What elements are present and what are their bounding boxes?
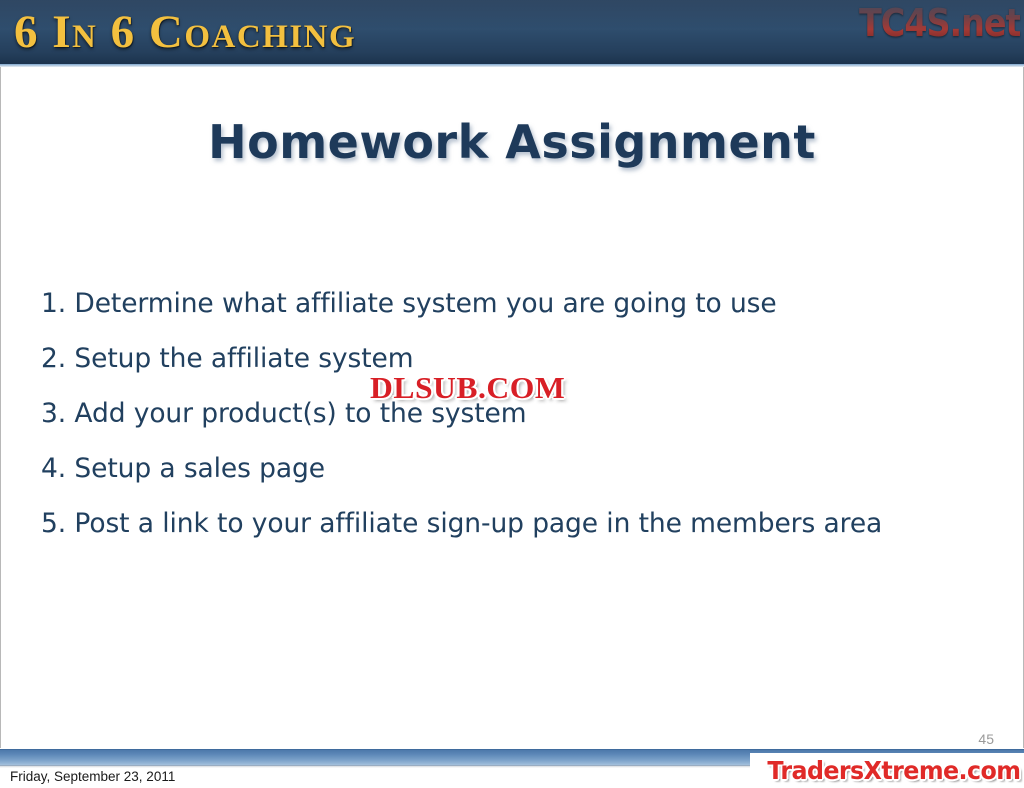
tradersxtreme-logo: TradersXtreme.com [767,756,1020,786]
footer-date: Friday, September 23, 2011 [10,768,175,786]
dlsub-watermark: DLSUB.COM [370,371,565,405]
homework-task-list: 1. Determine what affiliate system you a… [41,276,981,551]
slide-title: Homework Assignment [0,113,1024,171]
list-item: 4. Setup a sales page [41,441,981,496]
list-item: 1. Determine what affiliate system you a… [41,276,981,331]
brand-title: 6 In 6 Coaching [14,2,356,62]
tc4s-site-logo: TC4S.net [859,0,1020,49]
list-item: 5. Post a link to your affiliate sign-up… [41,496,981,551]
slide-number: 45 [978,731,994,747]
header-banner: 6 In 6 Coaching TC4S.net [0,0,1024,64]
presentation-slide: 6 In 6 Coaching TC4S.net Homework Assign… [0,0,1024,788]
footer-logo-plate: TradersXtreme.com [750,753,1024,788]
